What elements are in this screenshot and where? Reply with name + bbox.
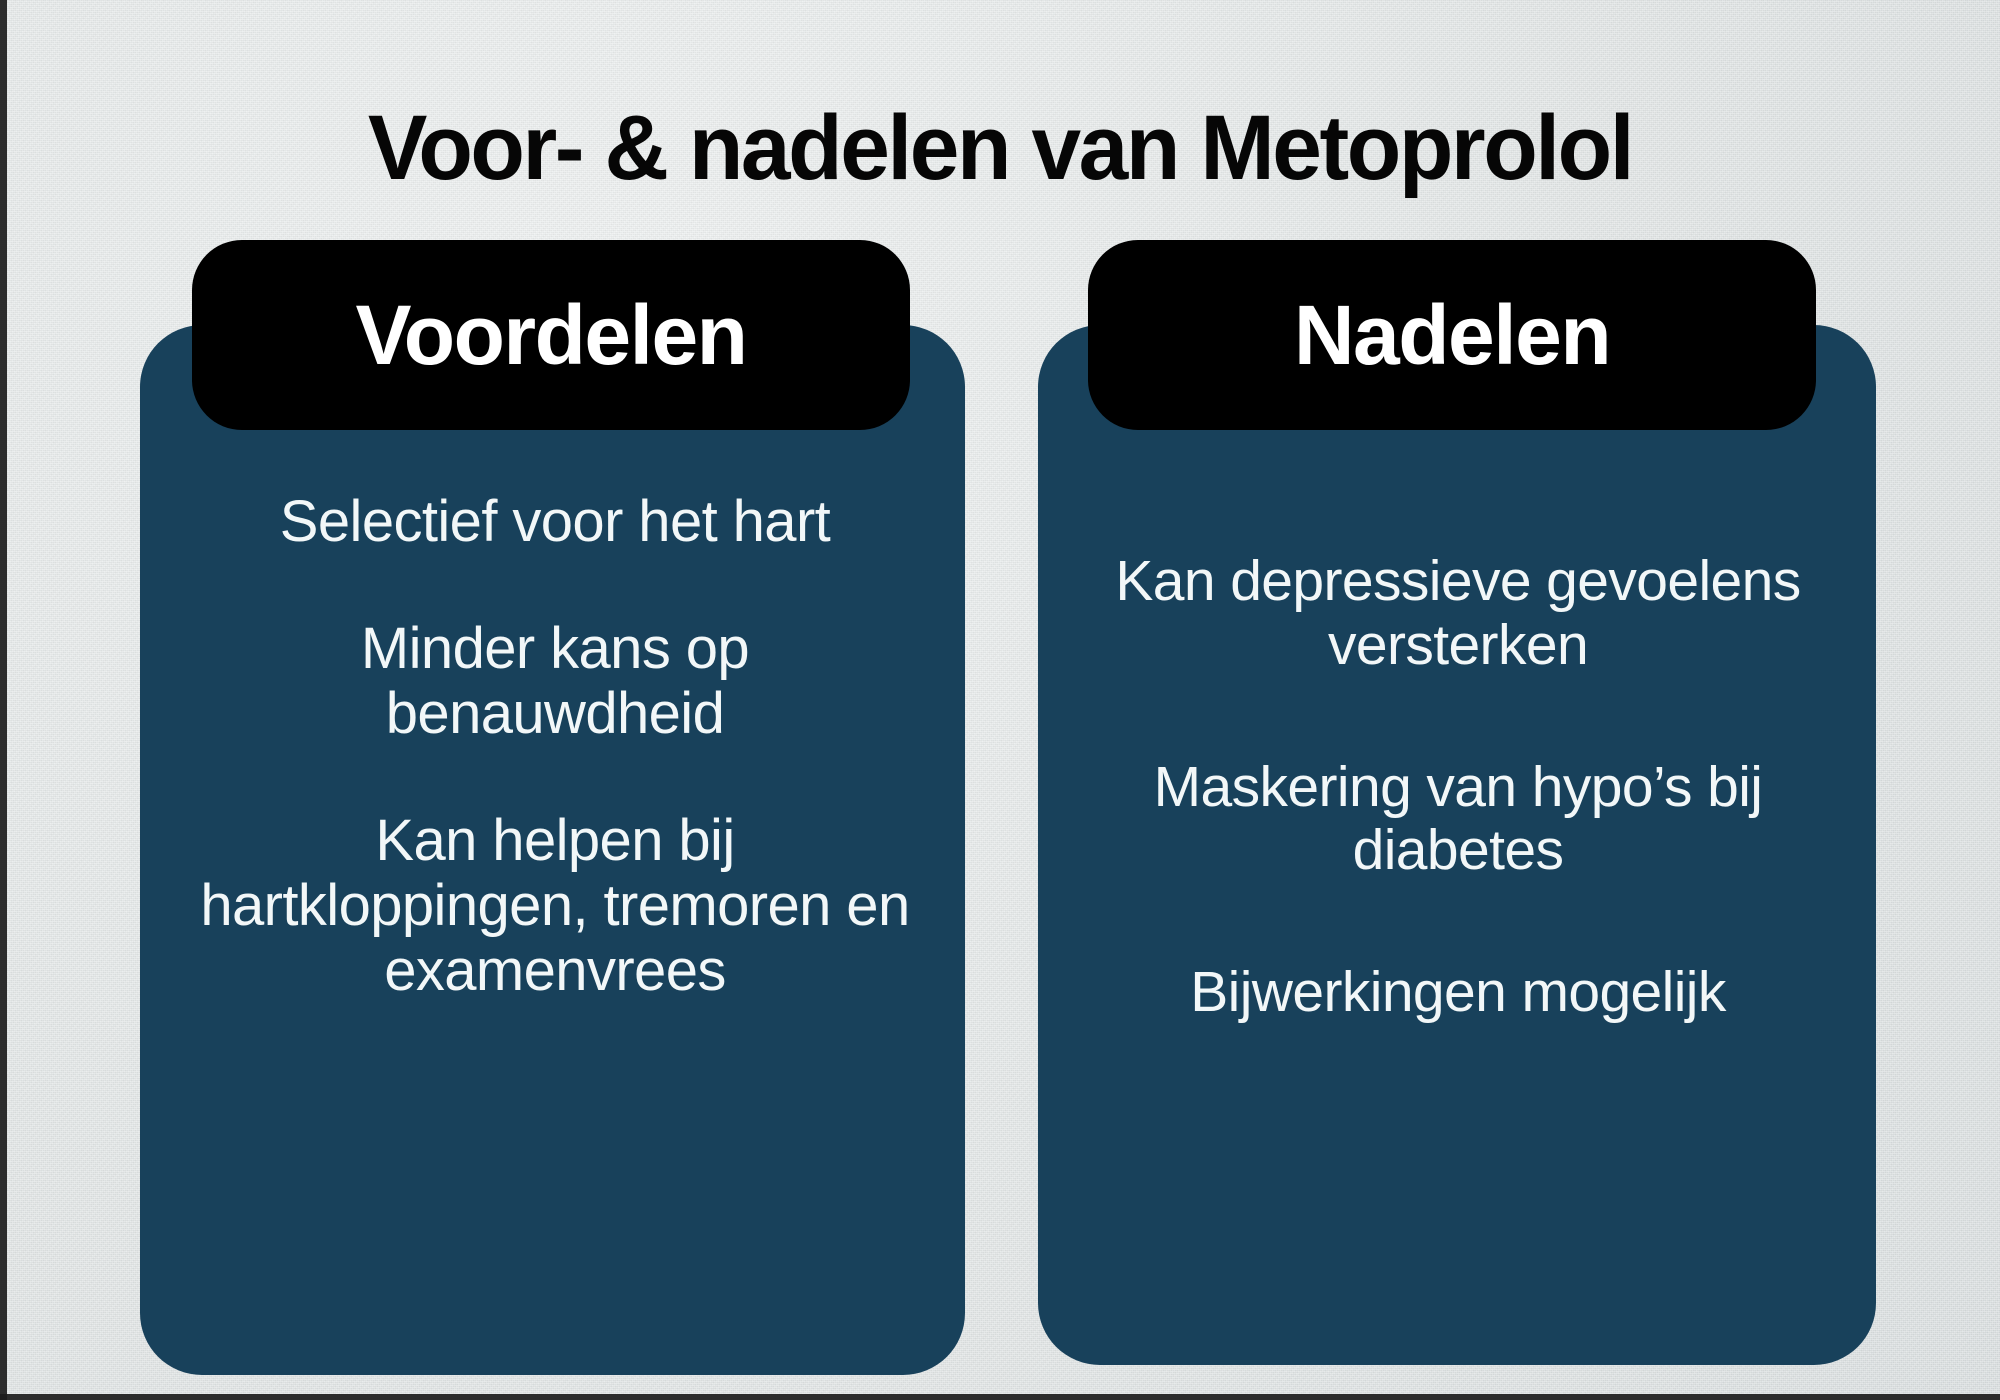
cons-badge-label: Nadelen [1294,293,1610,377]
list-item: Kan helpen bij hartkloppingen, tremoren … [192,809,918,1004]
list-item: Maskering van hypo’s bij diabetes [1090,756,1826,884]
list-item: Minder kans op benauwdheid [192,617,918,747]
comparison-columns: Voordelen Selectief voor het hart Minder… [0,0,2000,1400]
pros-badge: Voordelen [192,240,910,430]
cons-list: Kan depressieve gevoelens versterken Mas… [1068,550,1848,1025]
pros-badge-label: Voordelen [356,293,747,377]
list-item: Kan depressieve gevoelens versterken [1090,550,1826,678]
slide-canvas: Voor- & nadelen van Metoprolol Voordelen… [0,0,2000,1400]
list-item: Bijwerkingen mogelijk [1090,961,1826,1025]
pros-list: Selectief voor het hart Minder kans op b… [170,490,940,1004]
cons-badge: Nadelen [1088,240,1816,430]
list-item: Selectief voor het hart [192,490,918,555]
